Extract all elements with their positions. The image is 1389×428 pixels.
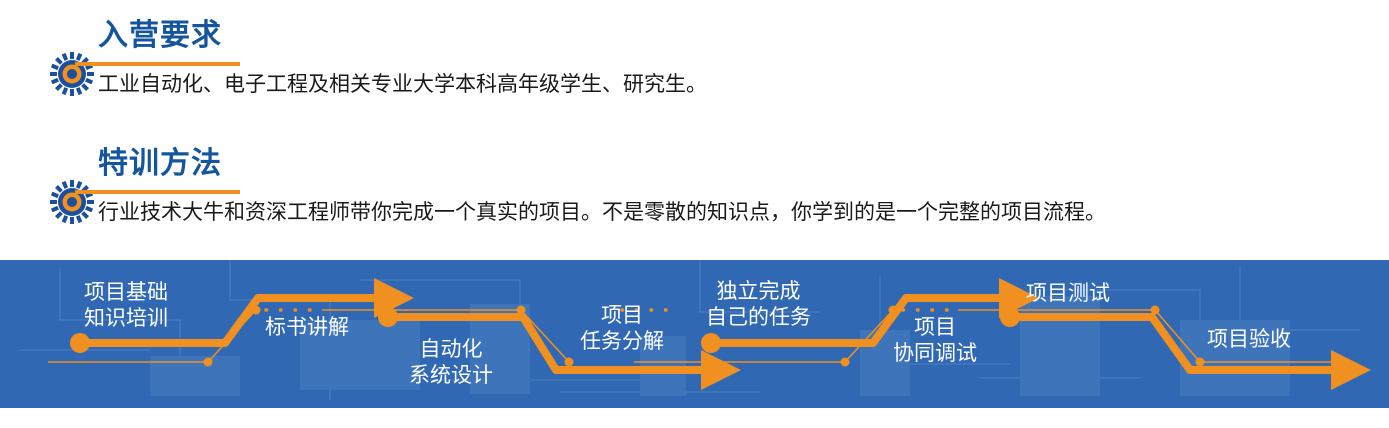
title-underline-rule xyxy=(75,190,240,194)
section-body-text: 工业自动化、电子工程及相关专业大学本科高年级学生、研究生。 xyxy=(98,70,707,100)
gear-icon xyxy=(50,180,94,224)
project-flow-panel: 项目基础 知识培训 标书讲解 自动化 系统设计 项目 任务分解 独立完成 自己的… xyxy=(0,260,1389,408)
flow-step-label-5: 独立完成 自己的任务 xyxy=(706,279,811,331)
flow-step-label-6: 项目 协同调试 xyxy=(893,315,977,367)
flow-step-label-4: 项目 任务分解 xyxy=(580,303,664,355)
flow-step-label-8: 项目验收 xyxy=(1207,327,1291,353)
title-underline-rule xyxy=(75,62,240,66)
flow-line-graphic xyxy=(0,260,1389,408)
section-body-text: 行业技术大牛和资深工程师带你完成一个真实的项目。不是零散的知识点，你学到的是一个… xyxy=(98,198,1106,228)
section-title: 入营要求 xyxy=(98,18,222,54)
section-title: 特训方法 xyxy=(98,146,222,182)
flow-step-label-7: 项目测试 xyxy=(1026,281,1110,307)
flow-step-label-1: 项目基础 知识培训 xyxy=(84,280,168,332)
flow-step-label-2: 标书讲解 xyxy=(265,315,349,341)
flow-step-label-3: 自动化 系统设计 xyxy=(409,337,493,389)
gear-icon xyxy=(50,52,94,96)
